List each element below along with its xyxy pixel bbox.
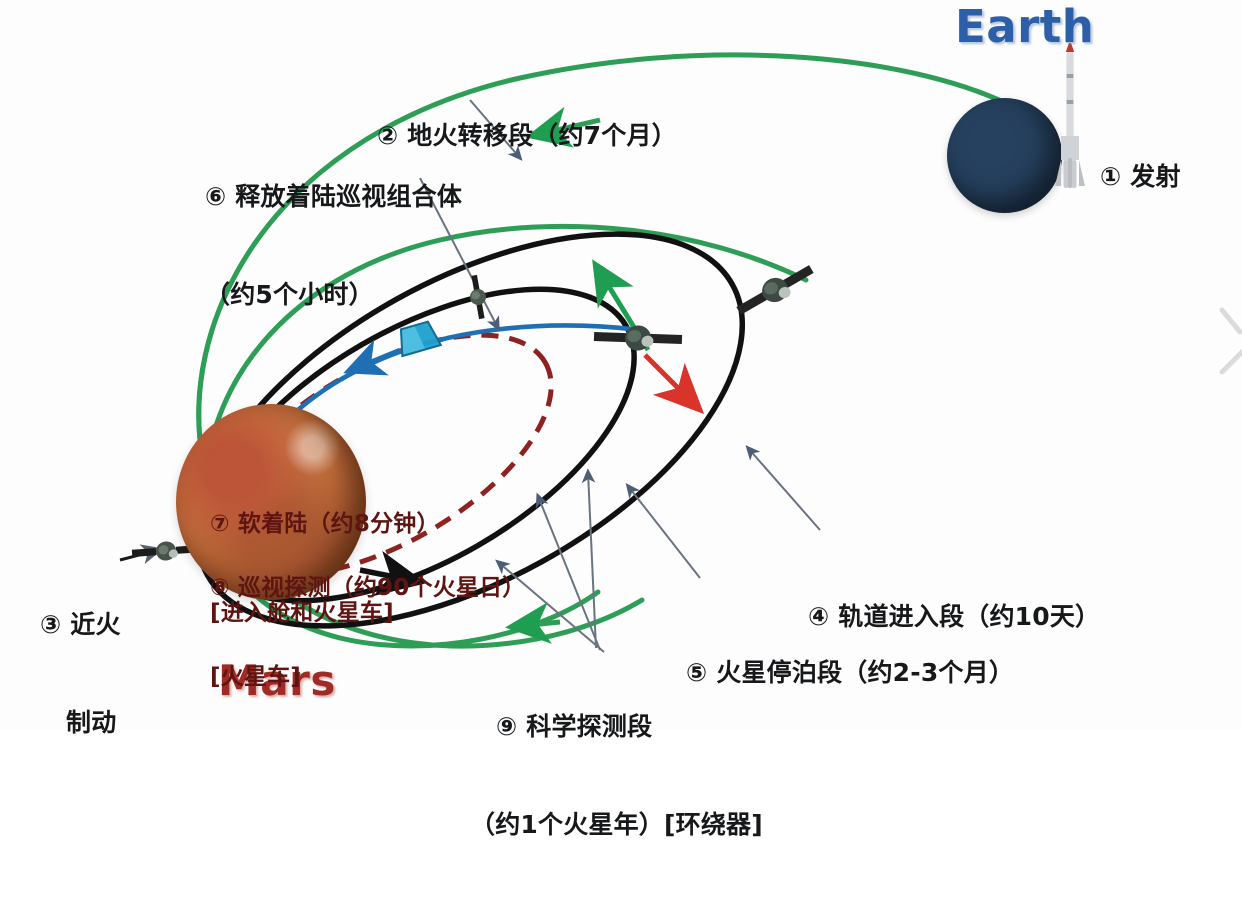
- label-step-9-line-2: （约1个火星年）[环绕器]: [470, 809, 763, 842]
- label-step-9[interactable]: ⑨ 科学探测段 （约1个火星年）[环绕器]: [470, 646, 763, 906]
- label-step-3[interactable]: ③ 近火 制动: [40, 544, 121, 804]
- diagram-canvas: Earth Mars ① 发射 ② 地火转移段（约7个月） ⑥ 释放着陆巡视组合…: [0, 0, 1242, 730]
- label-step-6-line-2: （约5个小时）: [205, 279, 462, 312]
- label-step-3-line-1: ③ 近火: [40, 609, 121, 642]
- label-step-3-line-2: 制动: [40, 707, 121, 740]
- launch-rocket-icon: [1055, 40, 1085, 188]
- label-step-8-line-1: ⑧ 巡视探测（约90个火星日）: [210, 574, 526, 604]
- earth-title: Earth: [955, 0, 1094, 53]
- label-step-9-line-1: ⑨ 科学探测段: [470, 711, 763, 744]
- label-step-1[interactable]: ① 发射: [1100, 96, 1181, 259]
- label-step-6-line-1: ⑥ 释放着陆巡视组合体: [205, 181, 462, 214]
- label-step-1-line-1: ① 发射: [1100, 161, 1181, 194]
- label-step-6[interactable]: ⑥ 释放着陆巡视组合体 （约5个小时）: [205, 116, 462, 376]
